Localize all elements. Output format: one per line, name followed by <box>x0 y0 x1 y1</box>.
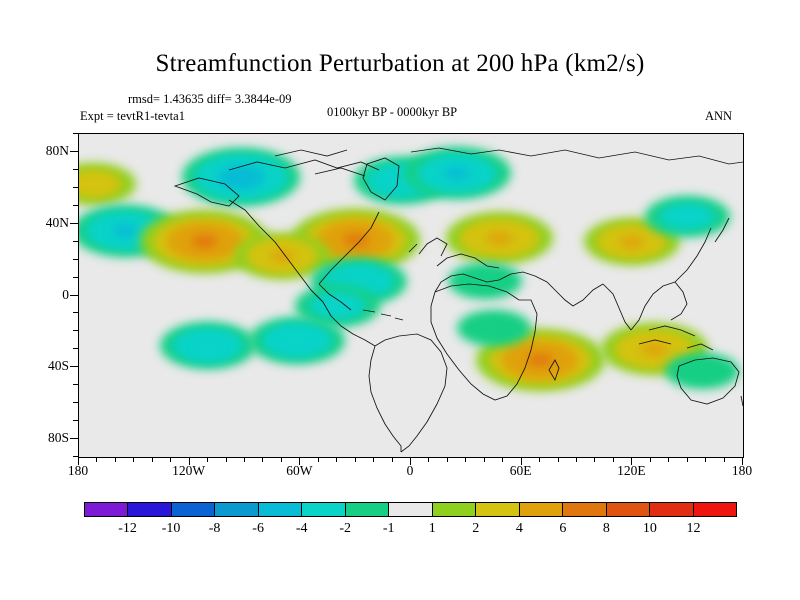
tick-mark <box>73 402 78 403</box>
tick-mark <box>558 457 559 462</box>
tick-mark <box>336 457 337 462</box>
colorbar-tick-label: 8 <box>603 521 610 537</box>
y-axis-tick-label: 80N <box>13 143 69 159</box>
x-axis-tick-label: 120E <box>617 463 646 479</box>
y-axis-tick-label: 40S <box>13 358 69 374</box>
colorbar-swatch <box>432 503 475 516</box>
tick-mark <box>262 457 263 462</box>
x-axis-tick-label: 60E <box>510 463 532 479</box>
tick-mark <box>613 457 614 462</box>
coastline-overlay <box>79 134 743 457</box>
tick-mark <box>705 457 706 462</box>
tick-mark <box>484 457 485 462</box>
tick-mark <box>152 457 153 462</box>
colorbar-swatch <box>388 503 431 516</box>
tick-mark <box>73 312 78 313</box>
y-axis-tick-label: 80S <box>13 430 69 446</box>
tick-mark <box>73 348 78 349</box>
tick-mark <box>170 457 171 462</box>
tick-mark <box>447 457 448 462</box>
season-label: ANN <box>705 109 732 124</box>
colorbar-swatch <box>258 503 301 516</box>
colorbar-swatch <box>606 503 649 516</box>
tick-mark <box>96 457 97 462</box>
colorbar-tick-label: -2 <box>339 521 351 537</box>
x-axis-tick-label: 180 <box>732 463 752 479</box>
colorbar-tick-label: -8 <box>209 521 221 537</box>
tick-mark <box>539 457 540 462</box>
tick-mark <box>115 457 116 462</box>
colorbar-tick-label: 1 <box>429 521 436 537</box>
rmsd-annotation: rmsd= 1.43635 diff= 3.3844e-09 <box>128 92 292 107</box>
tick-mark <box>355 457 356 462</box>
tick-mark <box>207 457 208 462</box>
colorbar[interactable] <box>84 502 737 517</box>
tick-mark <box>392 457 393 462</box>
colorbar-tick-label: -12 <box>118 521 137 537</box>
map-plot-area <box>78 133 744 458</box>
colorbar-swatch <box>301 503 344 516</box>
tick-mark <box>244 457 245 462</box>
tick-mark <box>73 187 78 188</box>
colorbar-swatch <box>693 503 736 516</box>
colorbar-swatch <box>345 503 388 516</box>
colorbar-swatch <box>171 503 214 516</box>
tick-mark <box>668 457 669 462</box>
tick-mark <box>226 457 227 462</box>
tick-mark <box>70 366 78 367</box>
tick-mark <box>73 133 78 134</box>
tick-mark <box>73 456 78 457</box>
tick-mark <box>318 457 319 462</box>
tick-mark <box>70 151 78 152</box>
period-label: 0100kyr BP - 0000kyr BP <box>327 105 457 120</box>
colorbar-swatch <box>519 503 562 516</box>
colorbar-tick-label: -10 <box>162 521 181 537</box>
tick-mark <box>594 457 595 462</box>
colorbar-swatch <box>214 503 257 516</box>
colorbar-swatch <box>85 503 127 516</box>
page-title: Streamfunction Perturbation at 200 hPa (… <box>0 50 800 78</box>
y-axis-tick-label: 0 <box>13 287 69 303</box>
tick-mark <box>687 457 688 462</box>
x-axis-tick-label: 60W <box>286 463 312 479</box>
tick-mark <box>373 457 374 462</box>
tick-mark <box>724 457 725 462</box>
tick-mark <box>73 169 78 170</box>
colorbar-swatch <box>475 503 518 516</box>
colorbar-tick-label: -6 <box>252 521 264 537</box>
y-axis-tick-label: 40N <box>13 215 69 231</box>
experiment-label: Expt = tevtR1-tevta1 <box>80 109 185 124</box>
colorbar-swatch <box>649 503 692 516</box>
tick-mark <box>73 277 78 278</box>
tick-mark <box>73 241 78 242</box>
x-axis-tick-label: 180 <box>68 463 88 479</box>
tick-mark <box>502 457 503 462</box>
tick-mark <box>428 457 429 462</box>
colorbar-tick-label: -1 <box>383 521 395 537</box>
colorbar-tick-label: 2 <box>472 521 479 537</box>
tick-mark <box>73 420 78 421</box>
tick-mark <box>133 457 134 462</box>
x-axis-tick-label: 0 <box>407 463 414 479</box>
tick-mark <box>650 457 651 462</box>
colorbar-tick-label: 4 <box>516 521 523 537</box>
tick-mark <box>70 295 78 296</box>
x-axis-tick-label: 120W <box>172 463 205 479</box>
colorbar-swatch <box>127 503 170 516</box>
figure-canvas: Streamfunction Perturbation at 200 hPa (… <box>0 0 800 600</box>
tick-mark <box>70 223 78 224</box>
tick-mark <box>465 457 466 462</box>
tick-mark <box>281 457 282 462</box>
tick-mark <box>73 205 78 206</box>
colorbar-tick-label: 12 <box>686 521 700 537</box>
tick-mark <box>73 384 78 385</box>
tick-mark <box>70 438 78 439</box>
tick-mark <box>576 457 577 462</box>
colorbar-tick-label: 6 <box>559 521 566 537</box>
colorbar-swatch <box>562 503 605 516</box>
colorbar-tick-label: -4 <box>296 521 308 537</box>
colorbar-tick-label: 10 <box>643 521 657 537</box>
tick-mark <box>73 330 78 331</box>
tick-mark <box>73 259 78 260</box>
